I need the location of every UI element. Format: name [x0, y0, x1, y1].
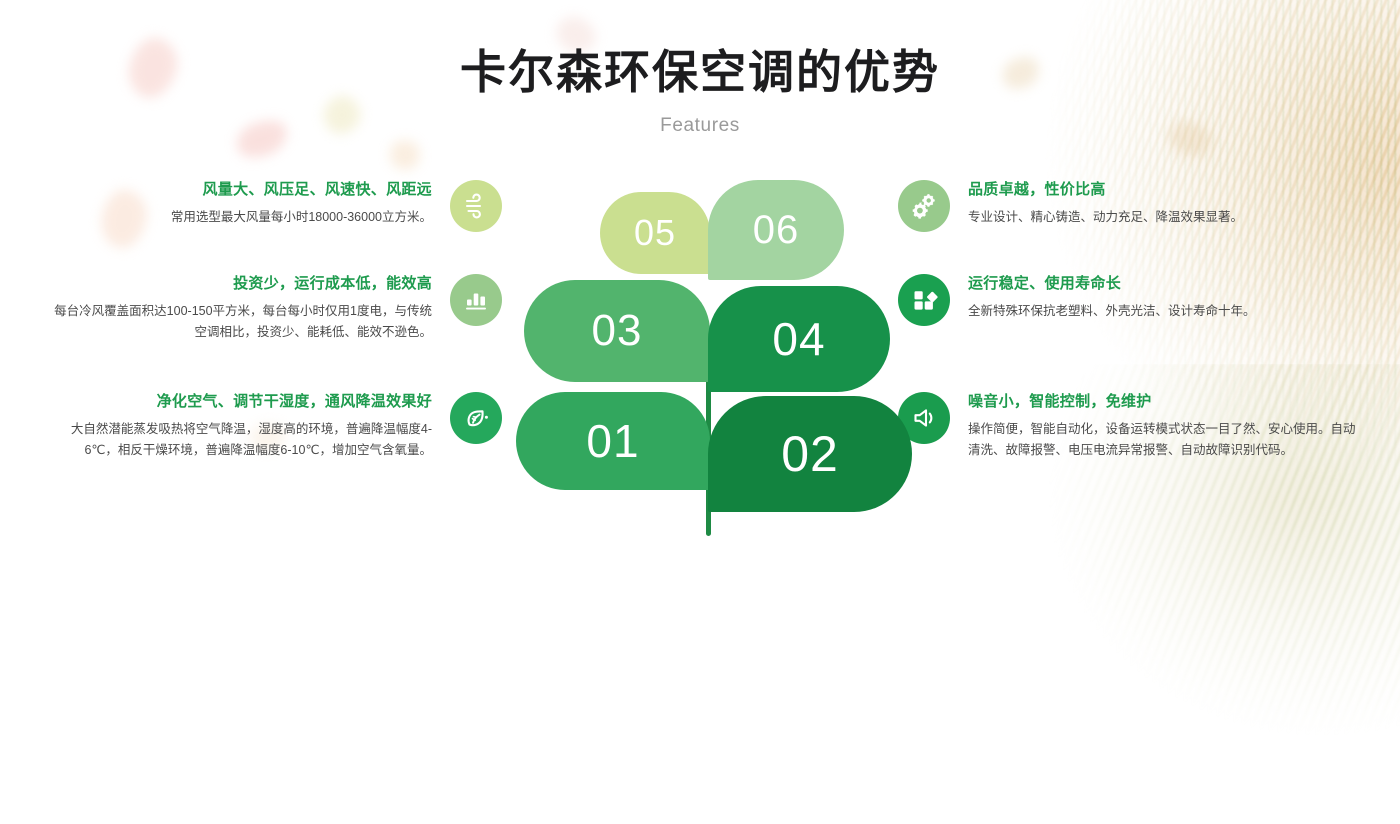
leaf-diagram: 05 06 03 04 01 02 — [470, 170, 930, 570]
page-subtitle: Features — [0, 99, 1400, 137]
header: 卡尔森环保空调的优势 Features — [0, 0, 1400, 137]
feature-text: 投资少，运行成本低，能效高 每台冷风覆盖面积达100-150平方米，每台每小时仅… — [42, 274, 450, 344]
feature-text: 品质卓越，性价比高 专业设计、精心铸造、动力充足、降温效果显著。 — [950, 180, 1358, 232]
feature-description: 每台冷风覆盖面积达100-150平方米，每台每小时仅用1度电，与传统空调相比，投… — [42, 301, 432, 344]
feature-text: 净化空气、调节干湿度，通风降温效果好 大自然潜能蒸发吸热将空气降温，湿度高的环境… — [42, 392, 450, 462]
feature-title: 噪音小，智能控制，免维护 — [968, 392, 1358, 412]
feature-title: 净化空气、调节干湿度，通风降温效果好 — [42, 392, 432, 412]
feature-description: 操作简便，智能自动化，设备运转模式状态一目了然、安心使用。自动清洗、故障报警、电… — [968, 419, 1358, 462]
feature-item-01[interactable]: 净化空气、调节干湿度，通风降温效果好 大自然潜能蒸发吸热将空气降温，湿度高的环境… — [42, 392, 502, 462]
feature-title: 运行稳定、使用寿命长 — [968, 274, 1358, 294]
leaf-06[interactable]: 06 — [708, 180, 844, 280]
feature-title: 投资少，运行成本低，能效高 — [42, 274, 432, 294]
feature-text: 运行稳定、使用寿命长 全新特殊环保抗老塑料、外壳光洁、设计寿命十年。 — [950, 274, 1358, 326]
leaf-number: 05 — [634, 212, 676, 254]
leaf-number: 01 — [586, 414, 639, 468]
feature-description: 大自然潜能蒸发吸热将空气降温，湿度高的环境，普遍降温幅度4-6℃，相反干燥环境，… — [42, 419, 432, 462]
feature-item-06[interactable]: 品质卓越，性价比高 专业设计、精心铸造、动力充足、降温效果显著。 — [898, 180, 1358, 232]
feature-description: 常用选型最大风量每小时18000-36000立方米。 — [42, 207, 432, 229]
leaf-02[interactable]: 02 — [708, 396, 912, 512]
feature-title: 品质卓越，性价比高 — [968, 180, 1358, 200]
leaf-number: 04 — [772, 312, 825, 366]
leaf-number: 02 — [781, 425, 839, 483]
leaf-05[interactable]: 05 — [600, 192, 710, 274]
feature-description: 全新特殊环保抗老塑料、外壳光洁、设计寿命十年。 — [968, 301, 1358, 323]
feature-text: 风量大、风压足、风速快、风距远 常用选型最大风量每小时18000-36000立方… — [42, 180, 450, 232]
feature-description: 专业设计、精心铸造、动力充足、降温效果显著。 — [968, 207, 1358, 229]
feature-item-05[interactable]: 投资少，运行成本低，能效高 每台冷风覆盖面积达100-150平方米，每台每小时仅… — [42, 274, 502, 344]
leaf-number: 06 — [753, 208, 800, 253]
feature-item-02[interactable]: 噪音小，智能控制，免维护 操作简便，智能自动化，设备运转模式状态一目了然、安心使… — [898, 392, 1358, 462]
leaf-04[interactable]: 04 — [708, 286, 890, 392]
feature-item-03[interactable]: 风量大、风压足、风速快、风距远 常用选型最大风量每小时18000-36000立方… — [42, 180, 502, 232]
leaf-01[interactable]: 01 — [516, 392, 710, 490]
leaf-03[interactable]: 03 — [524, 280, 710, 382]
leaf-number: 03 — [592, 306, 643, 356]
page-title: 卡尔森环保空调的优势 — [0, 0, 1400, 99]
feature-item-04[interactable]: 运行稳定、使用寿命长 全新特殊环保抗老塑料、外壳光洁、设计寿命十年。 — [898, 274, 1358, 326]
feature-text: 噪音小，智能控制，免维护 操作简便，智能自动化，设备运转模式状态一目了然、安心使… — [950, 392, 1358, 462]
feature-title: 风量大、风压足、风速快、风距远 — [42, 180, 432, 200]
petal-shape — [387, 137, 423, 173]
